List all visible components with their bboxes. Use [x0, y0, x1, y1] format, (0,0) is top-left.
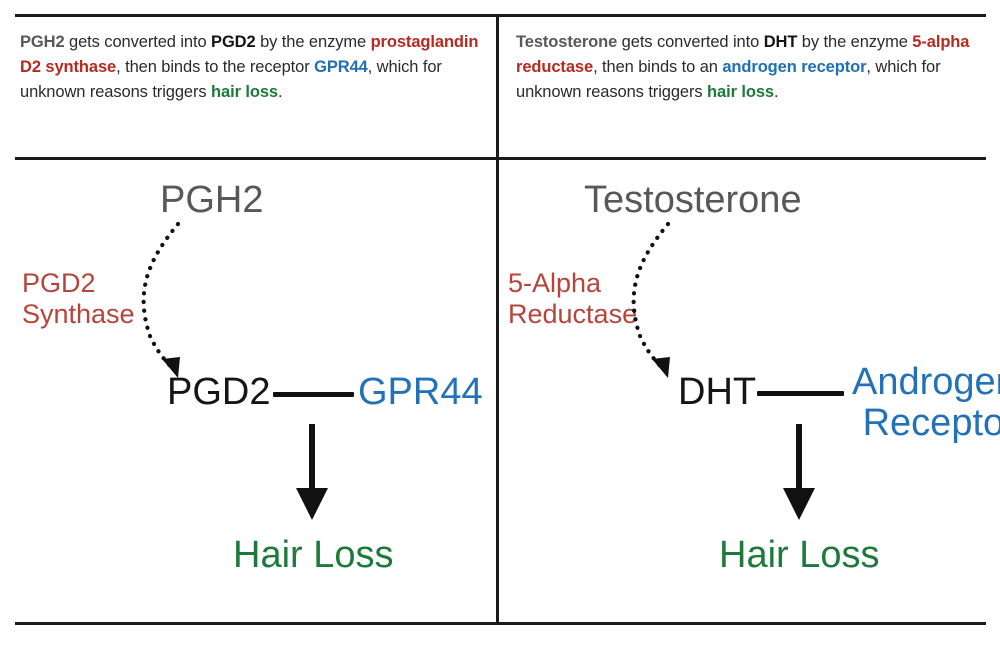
header-term-pgh2: PGH2 [20, 33, 65, 51]
header-text-6: gets converted into [617, 33, 764, 51]
diagram-node-substrate-pgh2: PGH2 [160, 180, 263, 221]
enzyme-label-line1: PGD2 [22, 268, 135, 299]
header-text-2: by the enzyme [256, 33, 371, 51]
header-term-androgen-receptor: androgen receptor [722, 58, 866, 76]
conversion-dotted-arrow-left [120, 218, 240, 388]
figure-canvas: PGH2 gets converted into PGD2 by the enz… [0, 0, 1000, 645]
bottom-divider-rule [15, 622, 986, 625]
header-text-1: gets converted into [65, 33, 212, 51]
panel-header-pgd2: PGH2 gets converted into PGD2 by the enz… [20, 30, 480, 105]
binding-connector-left [273, 392, 354, 397]
receptor-label-line1: Androgen [852, 361, 1000, 403]
header-term-gpr44: GPR44 [314, 58, 368, 76]
panel-header-dht: Testosterone gets converted into DHT by … [516, 30, 978, 105]
header-text-5: . [278, 83, 282, 101]
panel-separator-rule [496, 14, 499, 625]
header-text-8: , then binds to an [593, 58, 722, 76]
diagram-node-receptor-androgen: Androgen Receptor [852, 362, 1000, 444]
top-divider-rule [15, 14, 986, 17]
header-divider-rule [15, 157, 986, 160]
header-term-dht: DHT [764, 33, 798, 51]
header-text-3: , then binds to the receptor [116, 58, 314, 76]
effect-down-arrow-right [775, 420, 823, 524]
enzyme-label-line2: Synthase [22, 299, 135, 330]
diagram-node-outcome-hair-loss-right: Hair Loss [719, 535, 880, 576]
header-term-testosterone: Testosterone [516, 33, 617, 51]
diagram-node-receptor-gpr44: GPR44 [358, 372, 483, 413]
effect-down-arrow-left [288, 420, 336, 524]
header-term-hair-loss-right: hair loss [707, 83, 774, 101]
binding-connector-right [757, 391, 844, 396]
header-term-pgd2: PGD2 [211, 33, 256, 51]
diagram-node-substrate-testosterone: Testosterone [584, 180, 802, 221]
diagram-node-outcome-hair-loss-left: Hair Loss [233, 535, 394, 576]
diagram-node-product-pgd2: PGD2 [167, 372, 270, 413]
header-text-10: . [774, 83, 778, 101]
diagram-enzyme-label-pgd2-synthase: PGD2 Synthase [22, 268, 135, 330]
header-term-hair-loss: hair loss [211, 83, 278, 101]
diagram-node-product-dht: DHT [678, 372, 756, 413]
conversion-dotted-arrow-right [610, 218, 730, 388]
header-text-7: by the enzyme [797, 33, 912, 51]
receptor-label-line2: Receptor [852, 403, 1000, 444]
